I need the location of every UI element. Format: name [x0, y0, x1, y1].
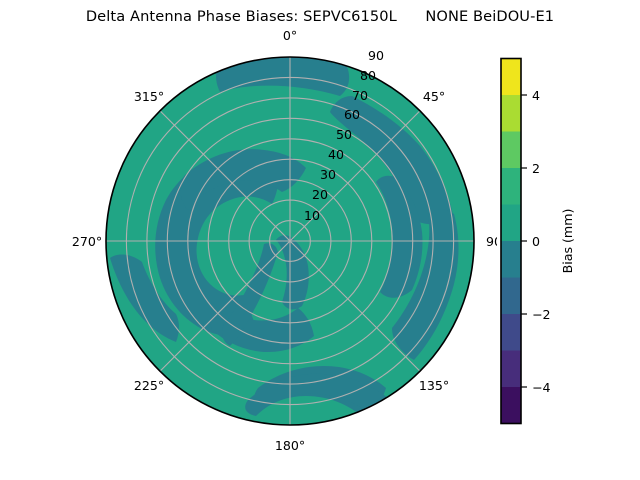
radial-label-90: 90: [368, 48, 384, 63]
colorbar-tick-2: 2: [532, 161, 540, 176]
colorbar-band-5: [501, 205, 521, 242]
angular-label-135: 135°: [419, 378, 449, 393]
radial-label-40: 40: [328, 147, 344, 162]
radial-label-10: 10: [304, 208, 320, 223]
radial-label-30: 30: [320, 167, 336, 182]
radial-label-20: 20: [312, 187, 328, 202]
figure-canvas: Delta Antenna Phase Biases: SEPVC6150L N…: [0, 0, 640, 480]
colorbar-tick-0: 0: [532, 234, 540, 249]
colorbar-band-7: [501, 132, 521, 169]
radial-label-50: 50: [336, 127, 352, 142]
angular-label-315: 315°: [134, 89, 164, 104]
colorbar-band-8: [501, 95, 521, 132]
angular-label-0: 0°: [283, 28, 297, 43]
colorbar-band-3: [501, 278, 521, 315]
colorbar-band-0: [501, 387, 521, 424]
colorbar-band-9: [501, 59, 521, 96]
colorbar-band-6: [501, 168, 521, 205]
colorbar-axis-label: Bias (mm): [560, 209, 575, 274]
angular-label-180: 180°: [275, 438, 305, 453]
radial-label-60: 60: [344, 107, 360, 122]
radial-label-70: 70: [352, 88, 368, 103]
angular-label-45: 45°: [423, 89, 445, 104]
polar-chart: 0° 45° 90 135° 180° 225° 270° 315° 10 20…: [0, 0, 640, 480]
angular-label-225: 225°: [134, 378, 164, 393]
angular-gridlines: [106, 57, 474, 425]
colorbar-bands: [501, 59, 521, 424]
colorbar-tick-minus4: −4: [532, 380, 551, 395]
colorbar-tick-4: 4: [532, 88, 540, 103]
angular-label-270: 270°: [72, 234, 102, 249]
colorbar-band-1: [501, 351, 521, 388]
colorbar[interactable]: 4 2 0 −2 −4 Bias (mm): [501, 59, 575, 424]
colorbar-band-4: [501, 241, 521, 278]
radial-label-80: 80: [360, 68, 376, 83]
colorbar-tick-labels: 4 2 0 −2 −4: [532, 88, 551, 395]
colorbar-tick-minus2: −2: [532, 307, 551, 322]
colorbar-band-2: [501, 314, 521, 351]
